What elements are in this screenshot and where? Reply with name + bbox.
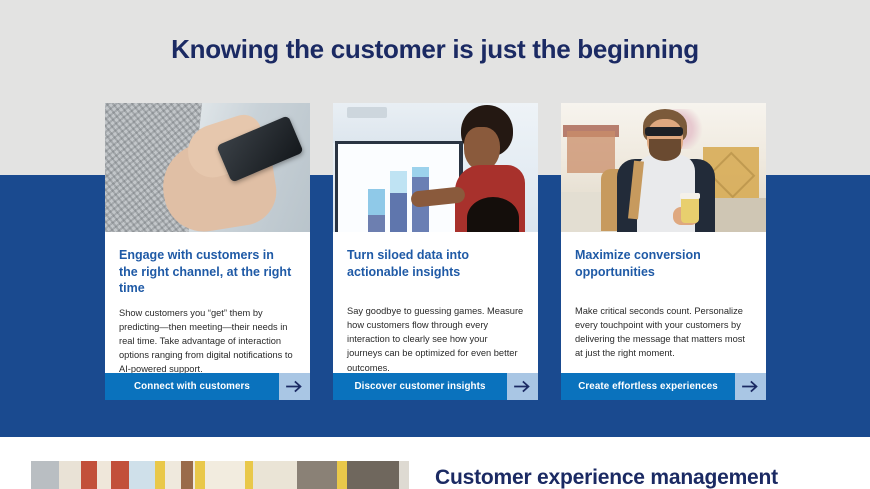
- card-image: [561, 103, 766, 232]
- card-title: Engage with customers in the right chann…: [119, 247, 296, 297]
- page-root: Knowing the customer is just the beginni…: [0, 0, 870, 489]
- card-description: Say goodbye to guessing games. Measure h…: [347, 304, 524, 375]
- arrow-right-icon[interactable]: [507, 373, 538, 400]
- card-image: [333, 103, 538, 232]
- feature-card[interactable]: Turn siloed data into actionable insight…: [333, 103, 538, 400]
- card-description: Show customers you “get” them by predict…: [119, 306, 296, 377]
- card-cta-label: Discover customer insights: [333, 373, 507, 400]
- card-body: Turn siloed data into actionable insight…: [333, 232, 538, 373]
- card-body: Engage with customers in the right chann…: [105, 232, 310, 373]
- arrow-right-icon[interactable]: [279, 373, 310, 400]
- bottom-section-image: [31, 461, 409, 489]
- man-with-backpack-and-coffee-photo: [561, 103, 766, 232]
- card-description: Make critical seconds count. Personalize…: [575, 304, 752, 361]
- woman-presenting-bar-chart-whiteboard-photo: [333, 103, 538, 232]
- card-cta-button[interactable]: Create effortless experiences: [561, 373, 766, 400]
- card-body: Maximize conversion opportunities Make c…: [561, 232, 766, 373]
- card-title: Turn siloed data into actionable insight…: [347, 247, 524, 280]
- card-cta-button[interactable]: Discover customer insights: [333, 373, 538, 400]
- card-title: Maximize conversion opportunities: [575, 247, 752, 280]
- card-cta-button[interactable]: Connect with customers: [105, 373, 310, 400]
- card-cta-label: Create effortless experiences: [561, 373, 735, 400]
- page-title: Knowing the customer is just the beginni…: [0, 34, 870, 65]
- card-cta-label: Connect with customers: [105, 373, 279, 400]
- bottom-section-title: Customer experience management: [435, 466, 835, 489]
- hand-holding-smartphone-photo: [105, 103, 310, 232]
- arrow-right-icon[interactable]: [735, 373, 766, 400]
- feature-card[interactable]: Engage with customers in the right chann…: [105, 103, 310, 400]
- feature-card-list: Engage with customers in the right chann…: [105, 103, 777, 403]
- feature-card[interactable]: Maximize conversion opportunities Make c…: [561, 103, 766, 400]
- card-image: [105, 103, 310, 232]
